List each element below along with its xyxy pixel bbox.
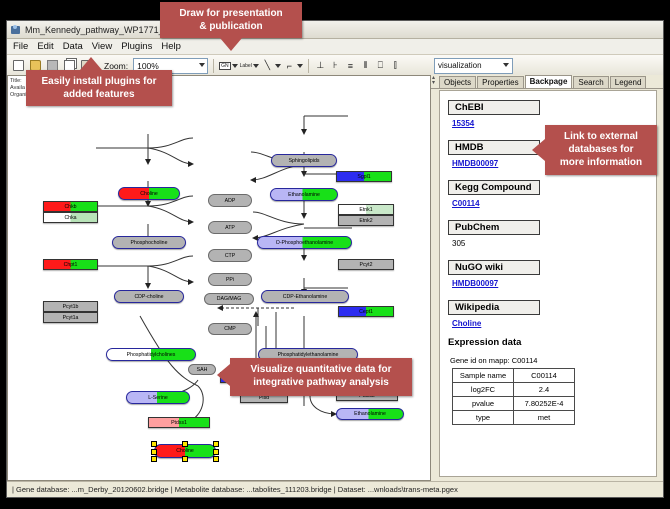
zoom-label: Zoom: (104, 61, 128, 71)
wikipedia-link[interactable]: Choline (452, 319, 656, 328)
selection-handles[interactable]: Choline (154, 444, 216, 458)
node-phosphatidylcholines[interactable]: Phosphatidylcholines (106, 348, 196, 361)
callout-plugins: Easily install plugins for added feature… (26, 70, 172, 106)
distribute-v-icon[interactable]: ≡ (344, 61, 357, 71)
menu-item-view[interactable]: View (92, 41, 112, 52)
node-chkb[interactable]: Chkb (43, 201, 98, 212)
menu-item-data[interactable]: Data (63, 41, 83, 52)
callout-links-line2: databases for (553, 143, 649, 156)
node-chka[interactable]: Chka (43, 212, 98, 223)
node-cmp[interactable]: CMP (208, 323, 252, 335)
node-cept1[interactable]: Cept1 (338, 306, 394, 317)
expression-data-title: Expression data (448, 337, 656, 348)
menu-item-plugins[interactable]: Plugins (121, 41, 152, 52)
handle-e[interactable] (213, 449, 219, 455)
zoom-value: 100% (137, 61, 159, 71)
chevron-down-icon (275, 64, 281, 68)
handle-nw[interactable] (151, 441, 157, 447)
node-ethanolamine-bottom[interactable]: Ethanolamine (336, 408, 404, 420)
tab-backpage[interactable]: Backpage (525, 75, 573, 88)
node-pcyt2[interactable]: Pcyt2 (338, 259, 394, 270)
align-top-icon[interactable]: ⊥ (314, 60, 327, 71)
handle-sw[interactable] (151, 456, 157, 462)
node-ptdss1[interactable]: Ptdss1 (148, 417, 210, 428)
menu-item-edit[interactable]: Edit (37, 41, 53, 52)
section-header-hmdb: HMDB (448, 140, 540, 155)
cell-value-type: met (514, 411, 575, 425)
handle-n[interactable] (182, 441, 188, 447)
node-sphingolipids[interactable]: Sphingolipids (271, 154, 337, 167)
label-tool[interactable]: Label (240, 63, 259, 69)
tab-objects[interactable]: Objects (439, 76, 476, 88)
node-chpt1[interactable]: Chpt1 (43, 259, 98, 270)
datanode-tool[interactable]: GN (219, 62, 238, 70)
menu-bar: File Edit Data View Plugins Help (7, 39, 663, 55)
section-header-chebi: ChEBI (448, 100, 540, 115)
cell-value-sample: C00114 (514, 369, 575, 383)
align-left-icon[interactable]: ⊦ (329, 60, 342, 71)
toolbar-separator (308, 59, 309, 73)
menu-item-file[interactable]: File (13, 41, 28, 52)
visualization-value: visualization (438, 61, 482, 70)
line-tool[interactable]: ╲ (261, 60, 281, 71)
callout-links-arrow-icon (532, 139, 545, 161)
tab-legend[interactable]: Legend (610, 76, 647, 88)
node-pcyt1b[interactable]: Pcyt1b (43, 301, 98, 312)
toolbar-separator (213, 59, 214, 73)
handle-w[interactable] (151, 449, 157, 455)
table-row: log2FC 2.4 (453, 383, 575, 397)
section-header-wikipedia: Wikipedia (448, 300, 540, 315)
table-row: type met (453, 411, 575, 425)
common-width-icon[interactable]: ⎕ (374, 60, 387, 71)
callout-plugins-line1: Easily install plugins for (34, 75, 164, 88)
node-choline-top[interactable]: Choline (118, 187, 180, 200)
nugo-link[interactable]: HMDB00097 (452, 279, 656, 288)
callout-visualize-arrow-icon (217, 364, 230, 386)
tab-search[interactable]: Search (573, 76, 608, 88)
tab-scroll-arrows[interactable]: ▴▾ (432, 76, 435, 86)
node-etnk2[interactable]: Etnk2 (338, 215, 394, 226)
callout-plugins-arrow-icon (80, 57, 102, 70)
chevron-down-icon (297, 64, 303, 68)
side-panel-tabs: Objects Properties Backpage Search Legen… (431, 75, 663, 89)
visualization-select[interactable]: visualization (434, 58, 513, 74)
cell-label-sample: Sample name (453, 369, 514, 383)
callout-visualize-line2: integrative pathway analysis (238, 376, 404, 389)
status-text: | Gene database: ...m_Derby_20120602.bri… (12, 485, 458, 494)
callout-links-line1: Link to external (553, 130, 649, 143)
title-bar: Mm_Kennedy_pathway_WP1771_45176.gpml (7, 21, 663, 39)
chevron-down-icon (199, 63, 205, 67)
tab-properties[interactable]: Properties (477, 76, 523, 88)
handle-ne[interactable] (213, 441, 219, 447)
section-header-nugo: NuGO wiki (448, 260, 540, 275)
node-sah[interactable]: SAH (188, 364, 216, 375)
new-file-icon[interactable] (11, 58, 26, 73)
callout-draw-line1: Draw for presentation (168, 7, 294, 20)
distribute-h-icon[interactable]: ⦀ (359, 60, 372, 71)
chevron-down-icon (253, 64, 259, 68)
callout-plugins-line2: added features (34, 88, 164, 101)
node-pcyt1a[interactable]: Pcyt1a (43, 312, 98, 323)
menu-item-help[interactable]: Help (161, 41, 181, 52)
callout-draw-arrow-icon (220, 38, 242, 51)
node-phosphocholine[interactable]: Phosphocholine (112, 236, 186, 249)
node-ethanolamine-top[interactable]: Ethanolamine (270, 188, 338, 201)
gene-id-line: Gene id on mapp: C00114 (450, 356, 656, 365)
expression-table: Sample name C00114 log2FC 2.4 pvalue 7.8… (452, 368, 575, 425)
shape-tool[interactable]: ⌐ (283, 61, 303, 71)
status-bar: | Gene database: ...m_Derby_20120602.bri… (7, 481, 663, 497)
cell-value-log2fc: 2.4 (514, 383, 575, 397)
chevron-down-icon (503, 63, 509, 67)
chevron-down-icon (232, 64, 238, 68)
pathway-canvas[interactable]: Title: Availa Organi (7, 75, 431, 481)
cell-value-pvalue: 7.80252E-4 (514, 397, 575, 411)
node-cdp-choline[interactable]: CDP-choline (114, 290, 184, 303)
callout-draw-line2: & publication (168, 20, 294, 33)
handle-se[interactable] (213, 456, 219, 462)
node-adp[interactable]: ADP (208, 194, 252, 207)
callout-visualize: Visualize quantitative data for integrat… (230, 358, 412, 396)
callout-draw: Draw for presentation & publication (160, 2, 302, 38)
cell-label-log2fc: log2FC (453, 383, 514, 397)
table-row: Sample name C00114 (453, 369, 575, 383)
cell-label-type: type (453, 411, 514, 425)
section-header-kegg: Kegg Compound (448, 180, 540, 195)
app-icon (11, 25, 21, 35)
node-ppi[interactable]: PPi (208, 273, 252, 286)
node-dagmag[interactable]: DAG/MAG (204, 293, 254, 305)
kegg-link[interactable]: C00114 (452, 199, 656, 208)
handle-s[interactable] (182, 456, 188, 462)
cell-label-pvalue: pvalue (453, 397, 514, 411)
common-height-icon[interactable]: ⫿ (389, 60, 402, 71)
node-cdp-ethanolamine[interactable]: CDP-Ethanolamine (261, 290, 349, 303)
node-l-serine-left[interactable]: L-Serine (126, 391, 190, 404)
node-o-phosphoethanolamine[interactable]: O-Phosphoethanolamine (257, 236, 352, 249)
callout-visualize-line1: Visualize quantitative data for (238, 363, 404, 376)
section-header-pubchem: PubChem (448, 220, 540, 235)
node-ctp[interactable]: CTP (208, 249, 252, 262)
pubchem-value: 305 (452, 239, 656, 248)
callout-links-line3: more information (553, 156, 649, 169)
callout-links: Link to external databases for more info… (545, 125, 657, 175)
node-atp[interactable]: ATP (208, 221, 252, 234)
node-etnk1[interactable]: Etnk1 (338, 204, 394, 215)
table-row: pvalue 7.80252E-4 (453, 397, 575, 411)
node-sgpl1[interactable]: Sgpl1 (336, 171, 392, 182)
